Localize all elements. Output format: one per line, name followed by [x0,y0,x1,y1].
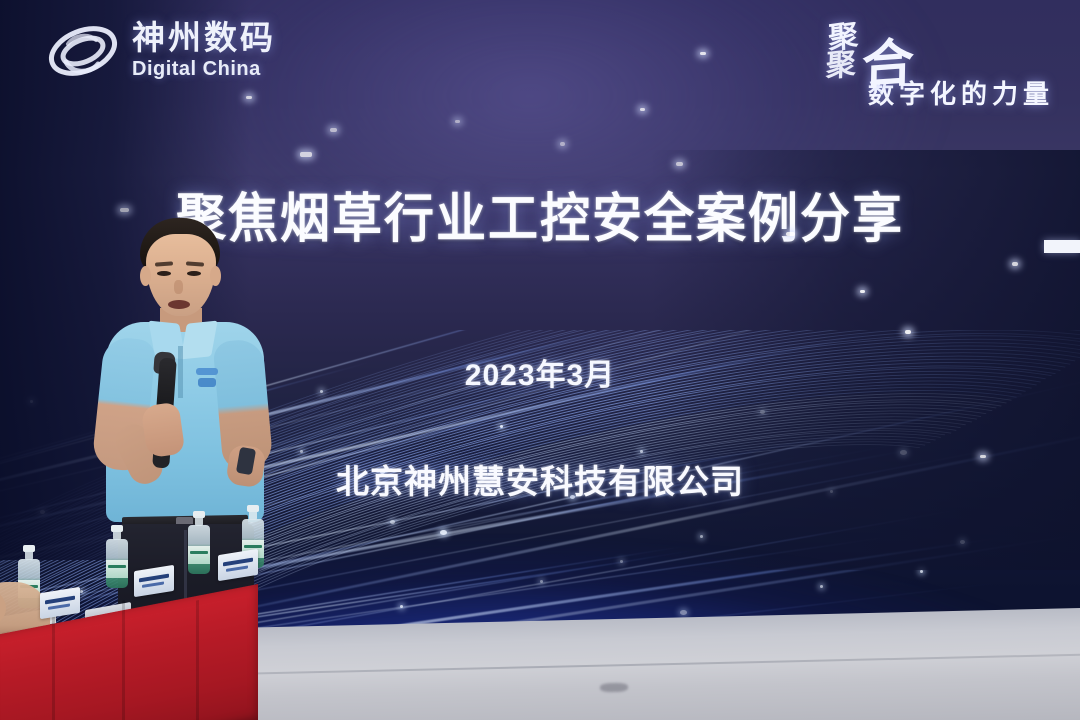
cloth-fold [122,600,125,720]
speaker-nose [174,280,183,294]
calligraphy-char-ju-bottom: 聚 [825,38,854,85]
speaker-ear-left [140,266,151,286]
speaker-shirt-placket [178,346,183,398]
name-card [134,565,174,597]
stage-floor-mark [600,683,628,692]
name-card [40,587,80,619]
digital-china-spiral-icon [46,16,120,86]
screenshot-root: 神州数码 Digital China 聚 聚 合 数字化的力量 聚焦烟草行业工控… [0,0,1080,720]
speaker-shirt-logo [196,368,222,390]
digital-china-logo: 神州数码 Digital China [46,16,276,86]
speaker-eye-left [157,271,171,276]
speaker-eye-right [187,271,201,276]
cloth-fold [52,600,55,720]
event-logo: 聚 聚 合 数字化的力量 [804,14,1054,111]
screen-right-edge-bar [1044,240,1080,253]
cloth-fold [196,600,199,720]
speaker-ear-right [210,266,221,286]
event-logo-calligraphy: 聚 聚 合 [804,14,1054,76]
digital-china-english-name: Digital China [132,59,276,79]
judges-table [0,540,260,720]
digital-china-chinese-name: 神州数码 [132,21,276,54]
water-bottle [188,516,210,574]
name-card [218,549,258,581]
water-bottle [106,530,128,588]
speaker-mouth [168,300,190,309]
calligraphy-char-he: 合 [861,20,914,99]
